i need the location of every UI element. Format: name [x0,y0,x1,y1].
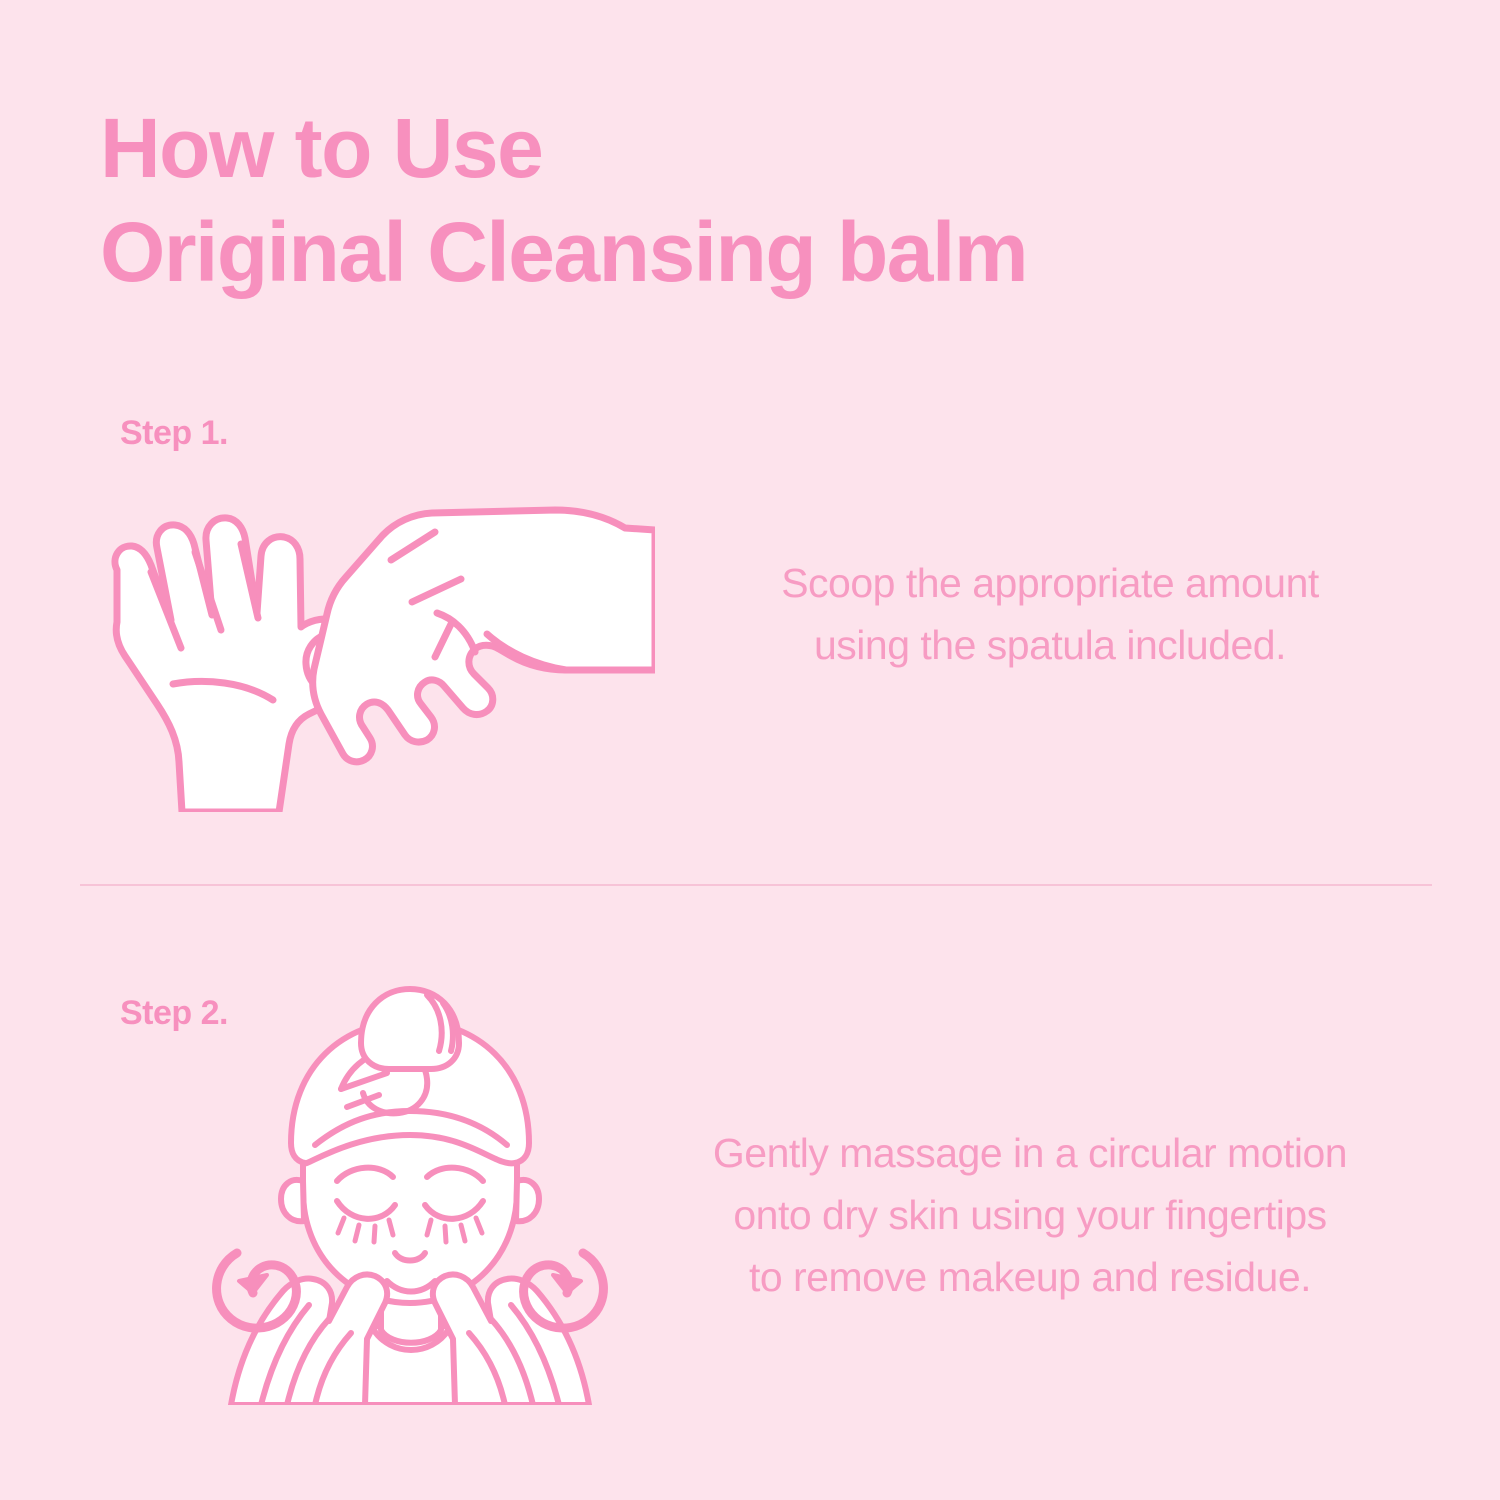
step-1-description-line-1: Scoop the appropriate amount [690,552,1410,614]
page-title: How to Use Original Cleansing balm [100,96,1350,304]
section-divider [80,884,1432,886]
how-to-use-infographic: How to Use Original Cleansing balm Step … [0,0,1500,1500]
step-2-description-line-3: to remove makeup and residue. [650,1246,1410,1308]
step-1-description-line-2: using the spatula included. [690,614,1410,676]
step-1-description: Scoop the appropriate amount using the s… [690,552,1410,676]
page-title-line-2: Original Cleansing balm [100,200,1350,304]
hands-scooping-balm-icon [95,452,655,812]
step-2-description-line-2: onto dry skin using your fingertips [650,1184,1410,1246]
step-2-description: Gently massage in a circular motion onto… [650,1122,1410,1308]
step-2-description-line-1: Gently massage in a circular motion [650,1122,1410,1184]
step-1-label: Step 1. [120,414,228,453]
page-title-line-1: How to Use [100,96,1350,200]
woman-massaging-face-icon [195,985,625,1405]
